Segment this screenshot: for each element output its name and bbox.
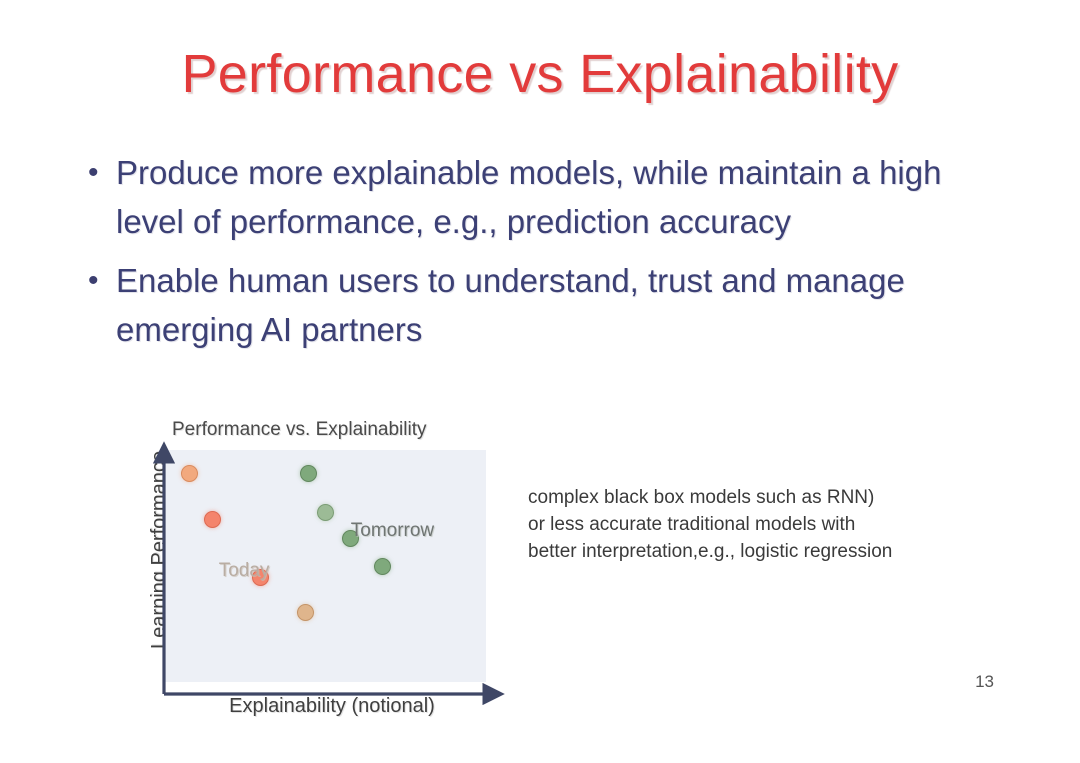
list-item: • Produce more explainable models, while… — [82, 148, 982, 246]
list-item: • Enable human users to understand, trus… — [82, 256, 982, 354]
bullet-text: Produce more explainable models, while m… — [116, 148, 982, 246]
bullet-marker-icon: • — [82, 148, 116, 198]
bullet-list: • Produce more explainable models, while… — [82, 148, 982, 364]
bullet-text: Enable human users to understand, trust … — [116, 256, 982, 354]
chart-x-axis-label: Explainability (notional) — [177, 694, 487, 718]
bullet-marker-icon: • — [82, 256, 116, 306]
scatter-chart: Performance vs. Explainability Learning … — [122, 418, 494, 726]
side-note-line-1: complex black box models such as RNN) — [528, 484, 998, 511]
chart-axes-icon — [144, 440, 504, 702]
side-note-line-2: or less accurate traditional models with — [528, 511, 998, 538]
chart-title: Performance vs. Explainability — [172, 418, 427, 442]
page-number: 13 — [975, 672, 994, 692]
page-title: Performance vs Explainability — [0, 42, 1080, 106]
side-note-text: complex black box models such as RNN) or… — [528, 484, 998, 565]
slide-canvas: Performance vs Explainability • Produce … — [0, 0, 1080, 763]
side-note-line-3: better interpretation,e.g., logistic reg… — [528, 538, 998, 565]
